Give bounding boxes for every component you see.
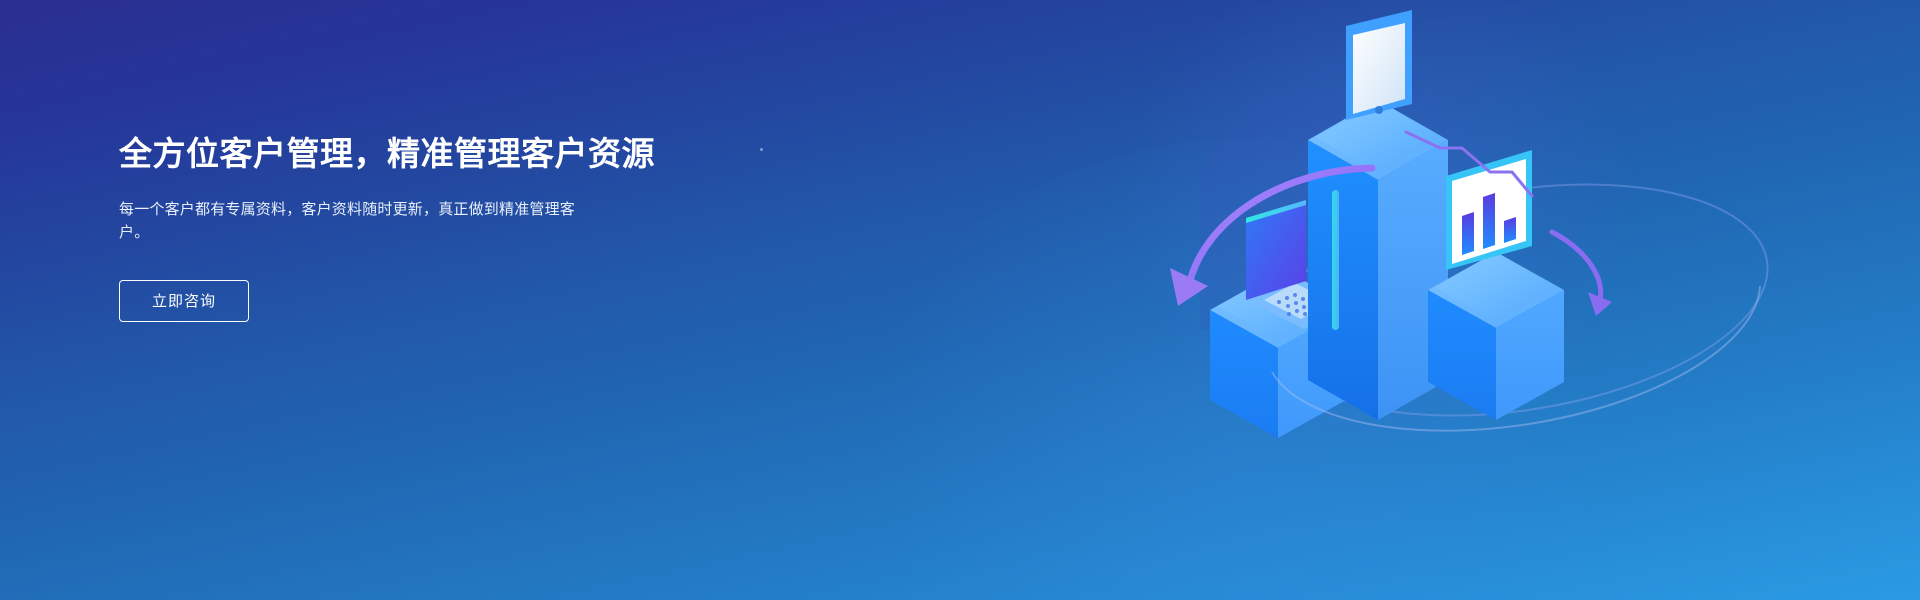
pillar-center-accent-stripe — [1332, 190, 1339, 330]
chart-bar-2 — [1483, 193, 1495, 249]
tablet — [1346, 10, 1412, 120]
chart-bar-3 — [1504, 217, 1516, 243]
consult-now-button[interactable]: 立即咨询 — [119, 280, 249, 322]
tablet-screen — [1353, 23, 1405, 114]
hero-banner: 全方位客户管理，精准管理客户资源 每一个客户都有专属资料，客户资料随时更新，真正… — [0, 0, 1920, 600]
chart-bar-1 — [1462, 212, 1474, 255]
tablet-home-button — [1375, 106, 1383, 114]
hero-subtitle: 每一个客户都有专属资料，客户资料随时更新，真正做到精准管理客户。 — [119, 176, 599, 244]
hero-copy-block: 全方位客户管理，精准管理客户资源 每一个客户都有专属资料，客户资料随时更新，真正… — [119, 132, 759, 322]
sparkle-dot — [760, 148, 763, 151]
chart-screen — [1446, 150, 1532, 270]
illustration-isometric-data-platform — [1160, 0, 1920, 600]
page-title: 全方位客户管理，精准管理客户资源 — [119, 132, 759, 176]
